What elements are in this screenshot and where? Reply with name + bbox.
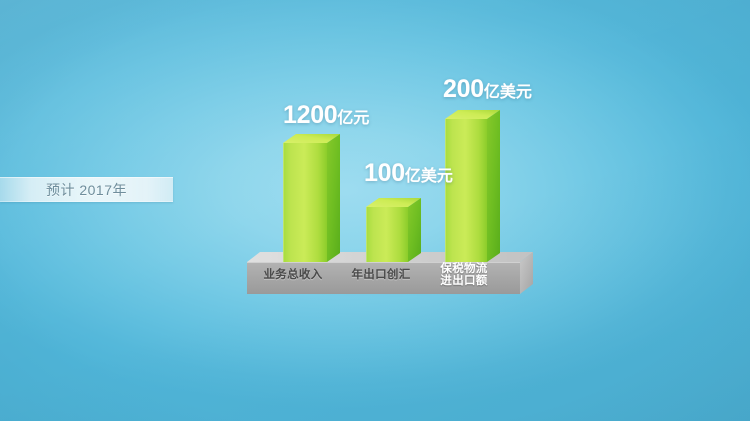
- value-label-1-unit: 亿美元: [405, 168, 453, 185]
- value-label-2-number: 200: [443, 75, 484, 103]
- value-label-2-unit: 亿美元: [484, 84, 532, 101]
- value-label-1-number: 100: [364, 159, 405, 187]
- category-label-2-line-1: 进出口额: [424, 275, 504, 287]
- category-label-0: 业务总收入: [250, 269, 336, 281]
- side-band-label: 预计 2017年: [46, 180, 127, 200]
- value-label-0-unit: 亿元: [337, 110, 369, 127]
- category-label-0-line-0: 业务总收入: [250, 269, 336, 281]
- value-label-0-number: 1200: [283, 101, 337, 129]
- bar-0: [283, 134, 343, 264]
- bar-1: [366, 198, 424, 264]
- side-band: 预计 2017年: [0, 177, 173, 202]
- infographic-slide: 预计 2017年: [0, 0, 750, 421]
- category-label-1-line-0: 年出口创汇: [340, 269, 422, 281]
- category-label-2: 保税物流 进出口额: [424, 263, 504, 287]
- category-label-2-line-0: 保税物流: [424, 263, 504, 275]
- value-label-0: 1200亿元: [283, 101, 369, 130]
- category-label-1: 年出口创汇: [340, 269, 422, 281]
- value-label-1: 100亿美元: [364, 159, 453, 188]
- value-label-2: 200亿美元: [443, 75, 532, 104]
- bar-2: [445, 110, 503, 264]
